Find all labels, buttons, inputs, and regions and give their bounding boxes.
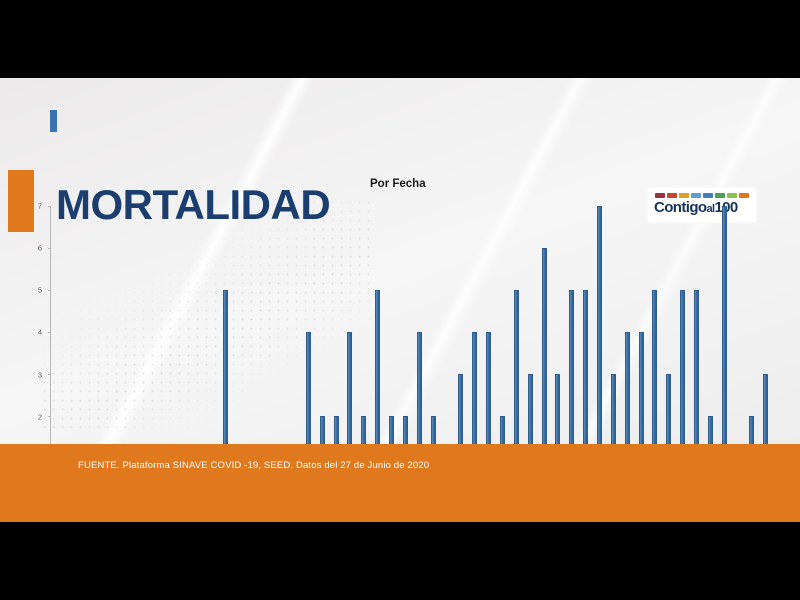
logo-color-bar (655, 193, 665, 198)
y-axis-tick-mark (48, 206, 51, 207)
y-axis-tick-label: 6 (38, 244, 42, 253)
y-axis-tick-mark (48, 416, 51, 417)
logo-color-bar (679, 193, 689, 198)
logo-color-bar (691, 193, 701, 198)
chart-subtitle: Por Fecha (370, 178, 426, 190)
y-axis-tick-mark (48, 374, 51, 375)
logo-color-bar (667, 193, 677, 198)
footer-band: FUENTE. Plataforma SINAVE COVID -19, SEE… (0, 444, 800, 522)
slide-frame: MORTALIDAD Por Fecha Contigoal100 012345… (0, 0, 800, 600)
logo-color-bar (703, 193, 713, 198)
y-axis-tick-label: 3 (38, 370, 42, 379)
source-footnote: FUENTE. Plataforma SINAVE COVID -19, SEE… (78, 460, 429, 471)
logo-color-bar (739, 193, 749, 198)
y-axis-tick-label: 5 (38, 286, 42, 295)
logo-stem-decoration (50, 110, 57, 132)
y-axis-tick-mark (48, 248, 51, 249)
logo-color-bar (727, 193, 737, 198)
y-axis-tick-label: 7 (38, 202, 42, 211)
presentation-slide: MORTALIDAD Por Fecha Contigoal100 012345… (0, 78, 800, 522)
y-axis-tick-mark (48, 332, 51, 333)
y-axis-tick-mark (48, 290, 51, 291)
y-axis-tick-label: 4 (38, 328, 42, 337)
y-axis-tick-label: 2 (38, 412, 42, 421)
logo-color-bar (715, 193, 725, 198)
logo-color-bars (655, 193, 749, 198)
